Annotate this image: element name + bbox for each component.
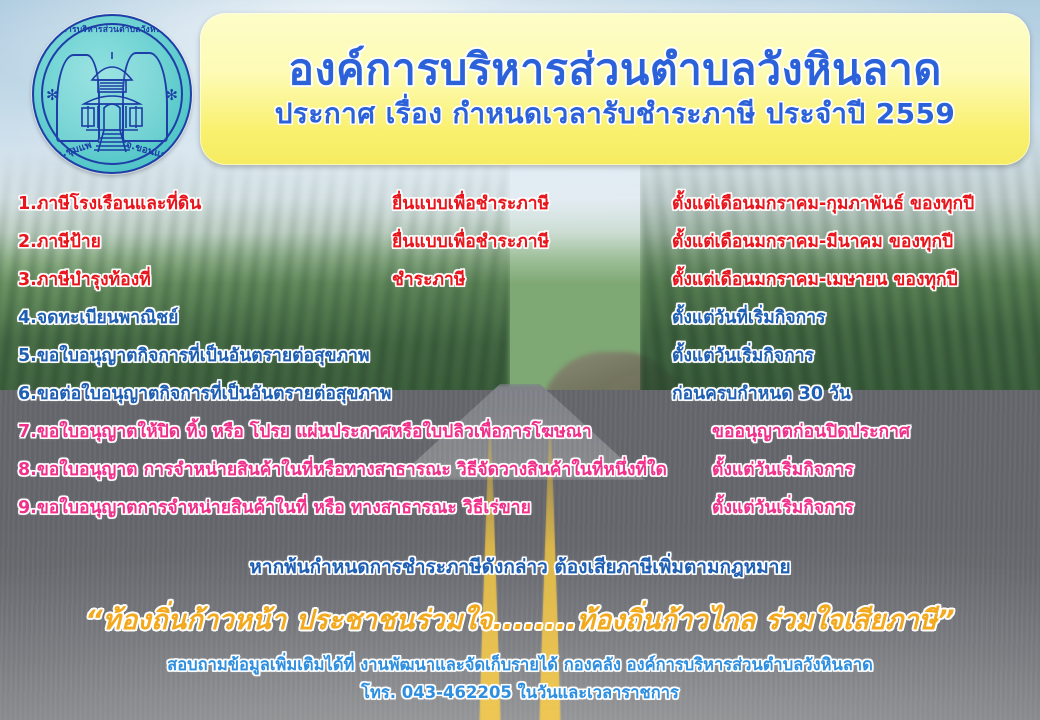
tax-item-period: ขออนุญาตก่อนปิดประกาศ — [712, 424, 910, 442]
tax-item-row: 3.ภาษีบำรุงท้องที่ชำระภาษีตั้งแต่เดือนมก… — [0, 272, 1040, 310]
tax-item-row: 1.ภาษีโรงเรือนและที่ดินยื่นแบบเพื่อชำระภ… — [0, 196, 1040, 234]
announcement-subtitle: ประกาศ เรื่อง กำหนดเวลารับชำระภาษี ประจำ… — [275, 99, 956, 130]
tax-item-period: ก่อนครบกำหนด 30 วัน — [672, 386, 851, 404]
tax-item-name: 6.ขอต่อใบอนุญาตกิจการที่เป็นอันตรายต่อสุ… — [18, 386, 391, 404]
late-payment-note: หากพ้นกำหนดการชำระภาษีดังกล่าว ต้องเสียภ… — [0, 552, 1040, 582]
tax-item-row: 8.ขอใบอนุญาต การจำหน่ายสินค้าในที่หรือทา… — [0, 462, 1040, 500]
contact-info: สอบถามข้อมูลเพิ่มเติมได้ที่ งานพัฒนาและจ… — [0, 652, 1040, 678]
tax-item-name: 5.ขอใบอนุญาตกิจการที่เป็นอันตรายต่อสุขภา… — [18, 348, 370, 366]
tax-item-period: ตั้งแต่วันที่เริ่มกิจการ — [672, 310, 825, 328]
tax-item-period: ตั้งแต่เดือนมกราคม-กุมภาพันธ์ ของทุกปี — [672, 196, 974, 214]
tax-schedule-list: 1.ภาษีโรงเรือนและที่ดินยื่นแบบเพื่อชำระภ… — [0, 196, 1040, 538]
organization-title: องค์การบริหารส่วนตำบลวังหินลาด — [288, 48, 942, 94]
poster-header: องค์การบริหารส่วนตำบลวังหินลาด ✻ ✻ — [0, 0, 1040, 180]
tax-item-action: ชำระภาษี — [392, 272, 465, 290]
announcement-poster: องค์การบริหารส่วนตำบลวังหินลาด ✻ ✻ — [0, 0, 1040, 720]
tax-item-period: ตั้งแต่วันเริ่มกิจการ — [672, 348, 814, 366]
title-banner: องค์การบริหารส่วนตำบลวังหินลาด ประกาศ เร… — [200, 13, 1030, 165]
tax-item-name: 1.ภาษีโรงเรือนและที่ดิน — [18, 196, 201, 214]
tax-item-row: 6.ขอต่อใบอนุญาตกิจการที่เป็นอันตรายต่อสุ… — [0, 386, 1040, 424]
organization-seal-logo: องค์การบริหารส่วนตำบลวังหินลาด ✻ ✻ — [32, 14, 192, 174]
tax-item-name: 2.ภาษีป้าย — [18, 234, 101, 252]
phone-info: โทร. 043-462205 ในวันและเวลาราชการ — [0, 680, 1040, 706]
tax-item-period: ตั้งแต่วันเริ่มกิจการ — [712, 462, 854, 480]
tax-item-name: 4.จดทะเบียนพาณิชย์ — [18, 310, 178, 328]
slogan-text: “ท้องถิ่นก้าวหน้า ประชาชนร่วมใจ........ท… — [0, 598, 1040, 641]
seal-pavilion-icon — [64, 50, 160, 154]
tax-item-name: 9.ขอใบอนุญาตการจำหน่ายสินค้าในที่ หรือ ท… — [18, 500, 531, 518]
tax-item-name: 3.ภาษีบำรุงท้องที่ — [18, 272, 151, 290]
seal-top-label: องค์การบริหารส่วนตำบลวังหินลาด — [37, 26, 187, 35]
tax-item-period: ตั้งแต่วันเริ่มกิจการ — [712, 500, 854, 518]
tax-item-row: 5.ขอใบอนุญาตกิจการที่เป็นอันตรายต่อสุขภา… — [0, 348, 1040, 386]
tax-item-period: ตั้งแต่เดือนมกราคม-มีนาคม ของทุกปี — [672, 234, 953, 252]
tax-item-action: ยื่นแบบเพื่อชำระภาษี — [392, 196, 549, 214]
tax-item-action: ยื่นแบบเพื่อชำระภาษี — [392, 234, 549, 252]
tax-item-row: 7.ขอใบอนุญาตให้ปิด ทิ้ง หรือ โปรย แผ่นปร… — [0, 424, 1040, 462]
tax-item-name: 7.ขอใบอนุญาตให้ปิด ทิ้ง หรือ โปรย แผ่นปร… — [18, 424, 592, 442]
tax-item-row: 2.ภาษีป้ายยื่นแบบเพื่อชำระภาษีตั้งแต่เดื… — [0, 234, 1040, 272]
tax-item-row: 9.ขอใบอนุญาตการจำหน่ายสินค้าในที่ หรือ ท… — [0, 500, 1040, 538]
tax-item-name: 8.ขอใบอนุญาต การจำหน่ายสินค้าในที่หรือทา… — [18, 462, 667, 480]
tax-item-period: ตั้งแต่เดือนมกราคม-เมษายน ของทุกปี — [672, 272, 958, 290]
tax-item-row: 4.จดทะเบียนพาณิชย์ตั้งแต่วันที่เริ่มกิจก… — [0, 310, 1040, 348]
